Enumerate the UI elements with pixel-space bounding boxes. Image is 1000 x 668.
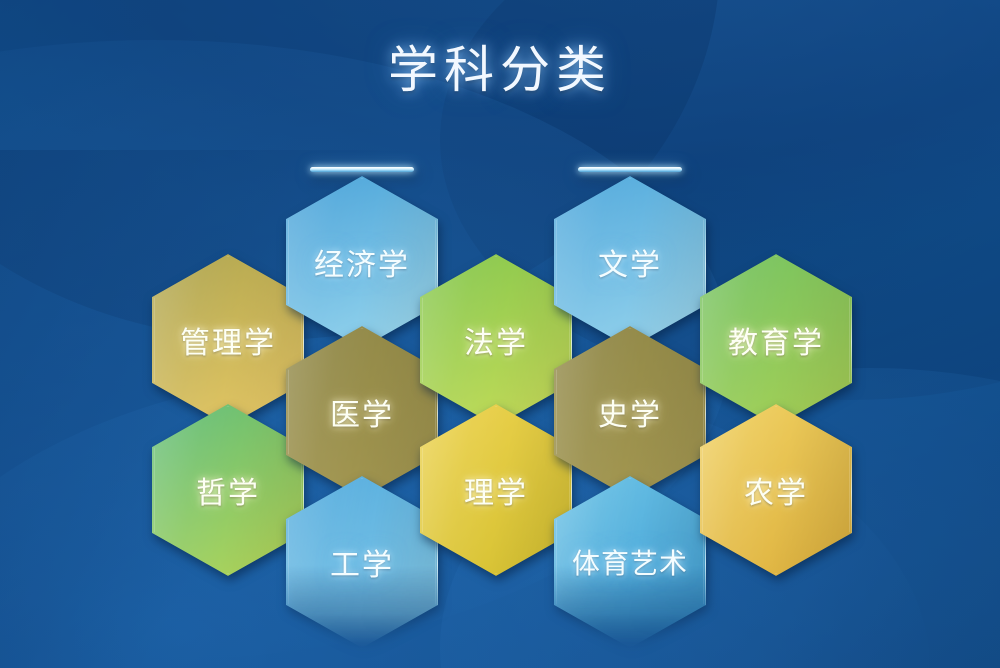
hexagon-label: 理学	[464, 468, 528, 512]
hexagon-tiyuyishu[interactable]: 体育艺术	[554, 476, 706, 648]
hexagon-label: 哲学	[196, 468, 260, 512]
hexagon-yixue[interactable]: 医学	[286, 326, 438, 498]
hexagon-zhexue[interactable]: 哲学	[152, 404, 304, 576]
hexagon-faxue[interactable]: 法学	[420, 254, 572, 426]
hexagon-jingjixue[interactable]: 经济学	[286, 176, 438, 348]
hexagon-label: 工学	[330, 540, 394, 584]
hexagon-shixue[interactable]: 史学	[554, 326, 706, 498]
hexagon-guanlixue[interactable]: 管理学	[152, 254, 304, 426]
hexagon-label: 教育学	[728, 318, 824, 362]
hexagon-lixue[interactable]: 理学	[420, 404, 572, 576]
hexagon-label: 文学	[598, 240, 662, 284]
hexagon-nongxue[interactable]: 农学	[700, 404, 852, 576]
hexagon-edge-highlight	[851, 442, 853, 542]
hexagon-wenxue[interactable]: 文学	[554, 176, 706, 348]
hexagon-edge-highlight	[851, 292, 853, 392]
hexagon-label: 管理学	[180, 318, 276, 362]
hexagon-label: 医学	[330, 390, 394, 434]
hexagon-label: 法学	[464, 318, 528, 362]
hexagon-gongxue[interactable]: 工学	[286, 476, 438, 648]
hexagon-top-highlight-bar	[310, 167, 414, 172]
hexagon-grid: 管理学哲学经济学医学工学法学理学文学史学体育艺术教育学农学	[0, 0, 1000, 668]
hexagon-label: 体育艺术	[572, 542, 688, 582]
hexagon-top-highlight-bar	[578, 167, 682, 172]
hexagon-label: 史学	[598, 390, 662, 434]
hexagon-label: 农学	[744, 468, 808, 512]
hexagon-label: 经济学	[314, 240, 410, 284]
hexagon-jiaoyuxue[interactable]: 教育学	[700, 254, 852, 426]
slide-canvas: 学科分类 管理学哲学经济学医学工学法学理学文学史学体育艺术教育学农学	[0, 0, 1000, 668]
